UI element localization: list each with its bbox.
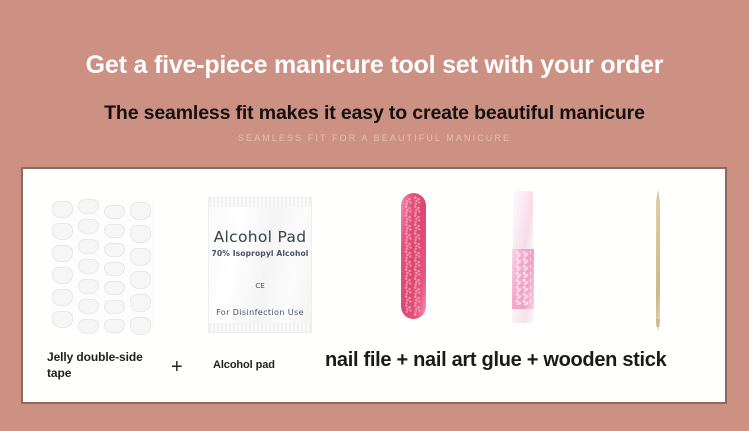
tape-column — [129, 199, 154, 330]
alcohol-pad-package-title: Alcohol Pad — [209, 228, 311, 246]
tape-tab — [130, 317, 151, 335]
banner-headline: Get a five-piece manicure tool set with … — [0, 50, 749, 80]
ce-mark-icon: CE — [209, 282, 311, 290]
tape-column — [51, 199, 76, 330]
jelly-double-side-tape-image — [51, 199, 155, 330]
promo-banner: Get a five-piece manicure tool set with … — [0, 0, 749, 431]
tape-tab — [78, 279, 99, 294]
tape-tab — [104, 224, 125, 238]
tape-tab — [78, 259, 99, 274]
banner-tagline: SEAMLESS FIT FOR A BEAUTIFUL MANICURE — [0, 132, 749, 144]
tape-tab — [78, 299, 99, 314]
alcohol-pad-image: Alcohol Pad 70% Isopropyl Alcohol CE For… — [208, 197, 312, 333]
glue-base — [512, 309, 534, 323]
product-image-row: Alcohol Pad 70% Isopropyl Alcohol CE For… — [23, 177, 725, 337]
label-jelly-double-side-tape: Jelly double-side tape — [47, 349, 167, 381]
tape-tab — [52, 245, 73, 262]
alcohol-pad-package-subtitle: 70% Isopropyl Alcohol — [209, 249, 311, 258]
tape-tab — [130, 225, 151, 243]
tape-tab — [104, 281, 125, 295]
tape-tab — [78, 319, 99, 334]
tape-tab — [52, 289, 73, 306]
tape-tab — [130, 271, 151, 289]
tape-tab — [78, 239, 99, 254]
tape-tab — [104, 205, 125, 219]
label-alcohol-pad: Alcohol pad — [213, 359, 275, 371]
glue-cap — [513, 191, 533, 253]
tape-tab — [78, 199, 99, 214]
tape-tab — [52, 267, 73, 284]
tape-tab — [52, 311, 73, 328]
tape-tab — [130, 294, 151, 312]
tape-tab — [104, 262, 125, 276]
product-panel: Alcohol Pad 70% Isopropyl Alcohol CE For… — [21, 167, 727, 404]
stick-body — [656, 199, 660, 327]
label-nail-file-glue-stick: nail file + nail art glue + wooden stick — [325, 349, 666, 372]
product-label-row: Jelly double-side tape + Alcohol pad nai… — [23, 341, 725, 401]
tape-tab — [130, 202, 151, 220]
alcohol-pad-package-use: For Disinfection Use — [209, 308, 311, 317]
tape-column — [103, 199, 128, 330]
tape-tab — [104, 319, 125, 333]
nail-art-glue-image — [512, 191, 534, 323]
stick-tip-bottom — [656, 319, 660, 331]
wooden-stick-image — [654, 189, 661, 329]
tape-tab — [78, 219, 99, 234]
nail-file-image — [401, 193, 426, 319]
tape-tab — [130, 248, 151, 266]
tape-tab — [52, 201, 73, 218]
glue-body — [512, 249, 534, 323]
tape-column — [77, 199, 102, 330]
tape-tab — [104, 243, 125, 257]
tape-tab — [104, 300, 125, 314]
product-panel-inner: Alcohol Pad 70% Isopropyl Alcohol CE For… — [23, 169, 725, 402]
label-plus-separator: + — [171, 356, 183, 379]
tape-tab — [52, 223, 73, 240]
banner-subheadline: The seamless fit makes it easy to create… — [0, 101, 749, 125]
